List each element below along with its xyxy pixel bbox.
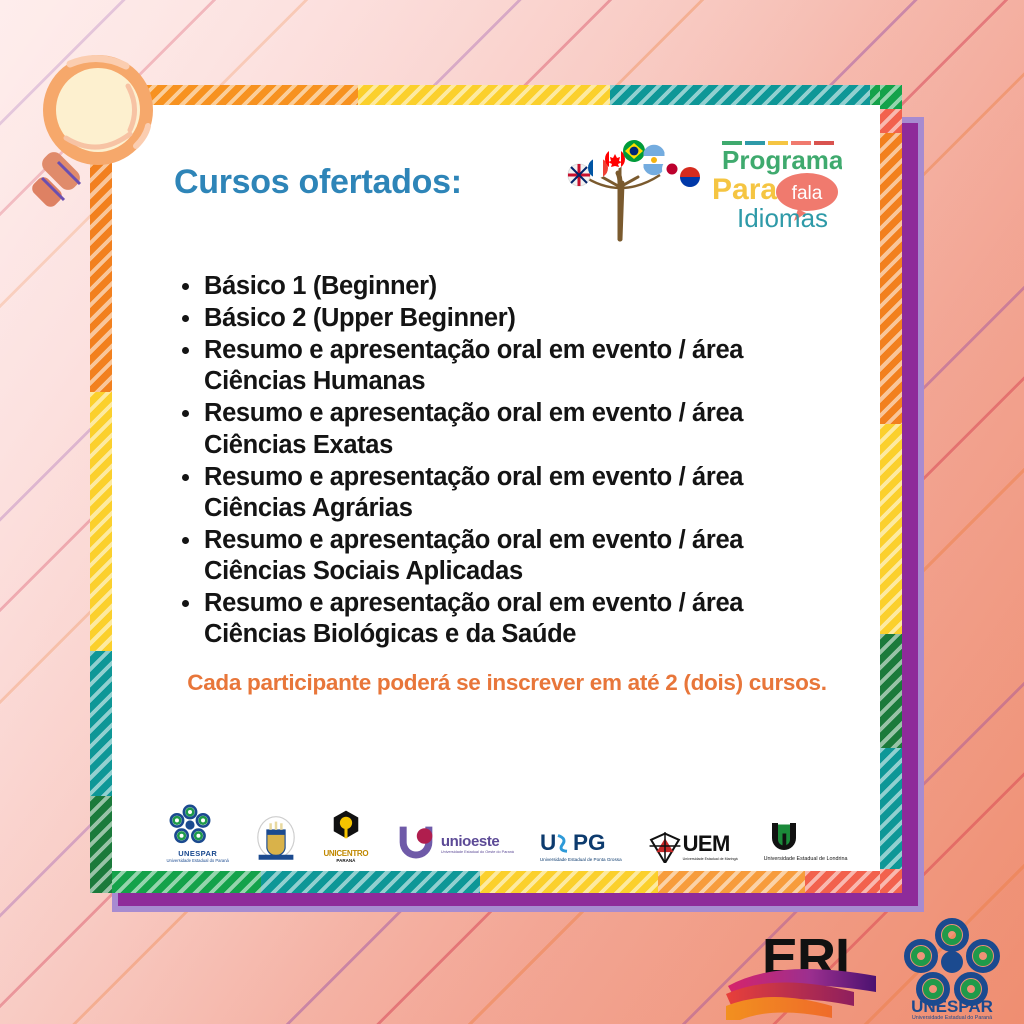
frame-segment [90, 651, 112, 796]
frame-segment [880, 869, 902, 893]
eri-logo: ERI [726, 920, 891, 1020]
frame-segment [880, 109, 902, 133]
flag-circle-paraguay [680, 167, 700, 187]
flag-circle-france [588, 158, 608, 178]
logo-unioeste-sub: Universidade Estadual do Oeste do Paraná [441, 850, 514, 854]
frame-right [880, 85, 902, 893]
frame-segment [90, 871, 261, 893]
frame-segment [880, 85, 902, 109]
flag-circle-japan [662, 159, 682, 179]
logo-unespar-sub: Universidade Estadual do Paraná [167, 858, 229, 863]
program-wordmark: Programa Paraná fala Idiomas [712, 141, 842, 233]
frame-segment [880, 634, 902, 747]
logo-uel: Universidade Estadual de Londrina [764, 820, 848, 863]
frame-segment [658, 871, 804, 893]
svg-text:Programa: Programa [722, 145, 842, 175]
participation-note: Cada participante poderá se inscrever em… [174, 670, 840, 696]
logo-uem: UEM Universidade Estadual de Maringá [648, 829, 738, 863]
svg-text:fala: fala [792, 183, 823, 204]
course-item: Básico 1 (Beginner) [174, 271, 840, 302]
logo-unespar: UNESPAR Universidade Estadual do Paraná [167, 802, 229, 863]
svg-text:Idiomas: Idiomas [737, 203, 828, 233]
logo-unioeste-label: unioeste [441, 833, 514, 850]
frame-segment [90, 392, 112, 651]
flag-circle-uk [568, 164, 590, 186]
svg-text:U: U [540, 830, 556, 855]
courses-list: Básico 1 (Beginner)Básico 2 (Upper Begin… [174, 271, 840, 650]
course-item: Básico 2 (Upper Beginner) [174, 303, 840, 334]
logo-uepg: U PG Universidade Estadual de Ponta Gros… [540, 829, 622, 863]
frame-segment [358, 85, 610, 105]
frame-segment [480, 871, 659, 893]
programa-parana-fala-idiomas-logo: Programa Paraná fala Idiomas [562, 135, 842, 245]
unespar-logo: UNESPAR Universidade Estadual do Paraná [897, 915, 1007, 1020]
logo-uem-sub: Universidade Estadual de Maringá [683, 857, 738, 861]
unespar-sub: Universidade Estadual do Paraná [912, 1015, 992, 1020]
logo-uepg-sub: Universidade Estadual de Ponta Grossa [540, 857, 622, 863]
flag-circle-argentina [643, 145, 665, 175]
svg-text:PG: PG [573, 830, 606, 855]
poster-card: Cursos ofertados: [90, 85, 902, 893]
frame-segment [880, 424, 902, 634]
poster-content: Cursos ofertados: [112, 105, 880, 871]
brand-block: ERI UNESPAR Universidade Estadual do Par… [726, 902, 1016, 1020]
frame-segment [880, 133, 902, 424]
course-item: Resumo e apresentação oral em evento / á… [174, 335, 840, 397]
flag-circle-brazil [623, 140, 645, 162]
frame-bottom [90, 871, 902, 893]
frame-segment [90, 796, 112, 893]
poster-header: Cursos ofertados: [174, 143, 840, 245]
logo-unespar-label: UNESPAR [167, 849, 229, 858]
logo-uem-crest [255, 815, 297, 863]
frame-segment [610, 85, 870, 105]
page-title: Cursos ofertados: [174, 143, 462, 199]
frame-top [90, 85, 902, 105]
logo-unicentro: UNICENTRO PARANÁ [323, 809, 369, 863]
logo-uel-sub: Universidade Estadual de Londrina [764, 856, 848, 863]
course-item: Resumo e apresentação oral em evento / á… [174, 398, 840, 460]
frame-segment [261, 871, 480, 893]
university-logos: UNESPAR Universidade Estadual do Paraná [174, 802, 840, 863]
course-item: Resumo e apresentação oral em evento / á… [174, 588, 840, 650]
magnifier-icon [18, 42, 178, 237]
unespar-wordmark: UNESPAR [911, 997, 993, 1016]
flag-circle-canada [605, 149, 625, 169]
logo-unioeste: unioeste Universidade Estadual do Oeste … [395, 823, 514, 863]
logo-uem-label: UEM [683, 831, 738, 857]
logo-unicentro-label: UNICENTRO [323, 849, 369, 858]
course-item: Resumo e apresentação oral em evento / á… [174, 525, 840, 587]
course-item: Resumo e apresentação oral em evento / á… [174, 462, 840, 524]
frame-segment [880, 748, 902, 869]
logo-unicentro-sub: PARANÁ [323, 858, 369, 863]
